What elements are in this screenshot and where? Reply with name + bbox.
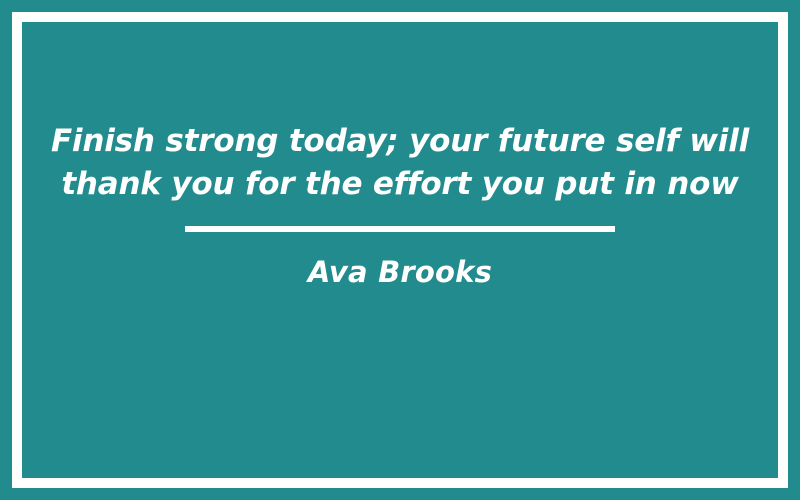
quote-divider	[185, 226, 615, 232]
quote-card: Finish strong today; your future self wi…	[0, 0, 800, 500]
author-name: Ava Brooks	[308, 255, 492, 289]
card-content: Finish strong today; your future self wi…	[22, 22, 778, 478]
quote-text: Finish strong today; your future self wi…	[47, 120, 753, 206]
